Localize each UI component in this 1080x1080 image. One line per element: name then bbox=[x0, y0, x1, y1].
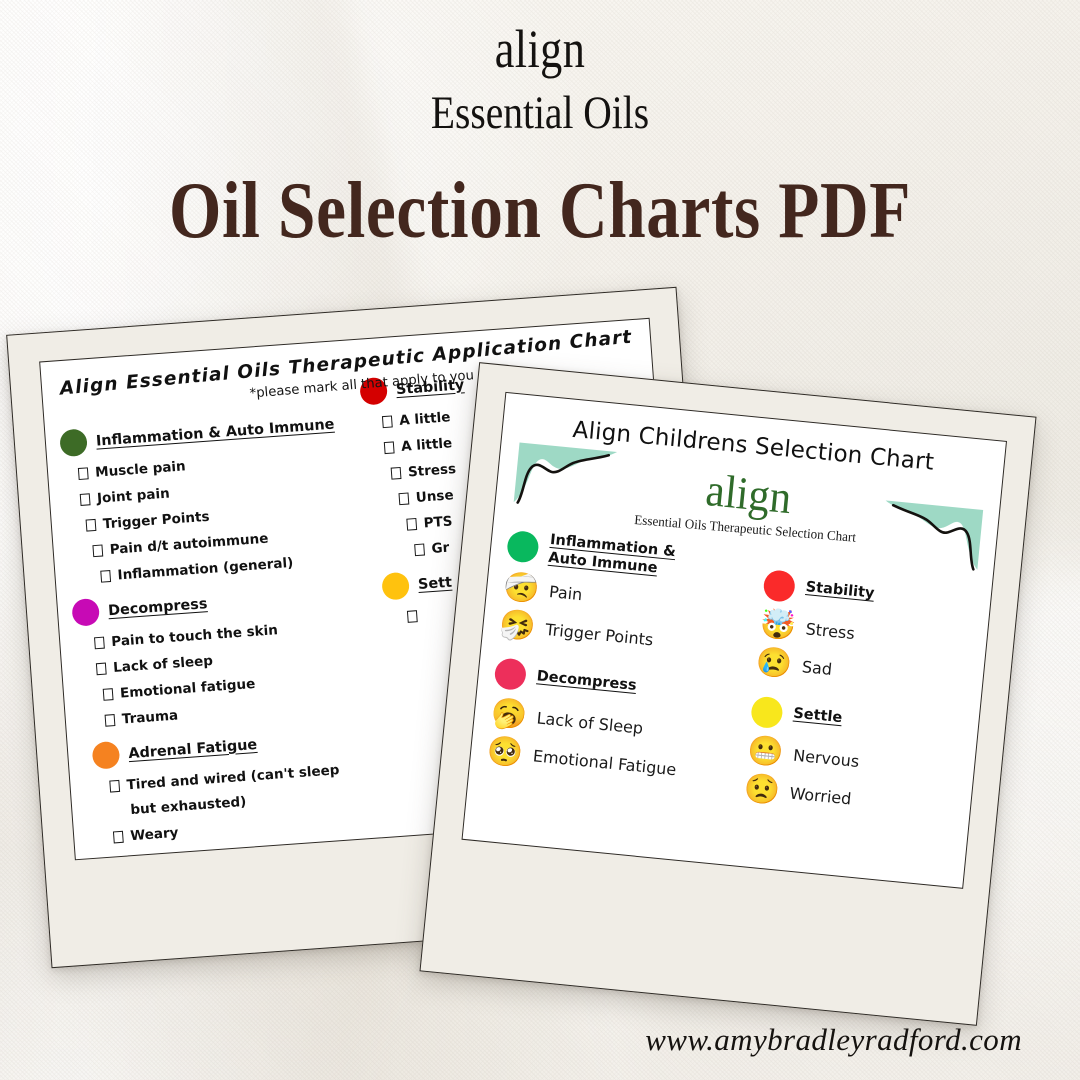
checklist-label: Trauma bbox=[121, 708, 178, 728]
checkbox-icon[interactable] bbox=[109, 780, 120, 793]
group-color-dot-green bbox=[59, 428, 88, 457]
checkbox-icon[interactable] bbox=[382, 415, 393, 428]
group-label: Inflammation & Auto Immune bbox=[95, 416, 334, 449]
brand-subtitle: Essential Oils bbox=[86, 86, 993, 141]
childrens-right-column: Stability 🤯 Stress 😢 Sad bbox=[719, 551, 977, 824]
group-color-dot-orange bbox=[92, 741, 121, 770]
group-label: Settle bbox=[792, 706, 842, 729]
worried-face-emoji: 😟 bbox=[742, 774, 778, 806]
group-label: Decompress bbox=[108, 596, 208, 619]
childrens-left-column: Inflammation &Auto Immune 🤕 Pain 🤧 Trigg… bbox=[485, 528, 743, 801]
symptom-label: Sad bbox=[801, 657, 833, 679]
checklist-label: Lack of sleep bbox=[113, 653, 214, 676]
checklist-label: A little bbox=[401, 435, 453, 455]
symptom-label: Lack of Sleep bbox=[536, 708, 644, 737]
checklist-label: Gr bbox=[431, 540, 450, 557]
group-color-dot-yellow bbox=[750, 695, 784, 729]
group-color-dot-pink bbox=[493, 658, 527, 692]
symptom-label: Nervous bbox=[792, 746, 860, 771]
checklist-label: Pain d/t autoimmune bbox=[109, 531, 269, 558]
yawning-face-emoji: 🥱 bbox=[490, 699, 526, 731]
group-color-dot-magenta bbox=[71, 598, 100, 627]
symptom-label: Pain bbox=[548, 582, 583, 604]
sneezing-face-emoji: 🤧 bbox=[498, 610, 534, 642]
childrens-chart-card[interactable]: Align Childrens Selection Chart align Es… bbox=[419, 362, 1036, 1026]
group-label: Decompress bbox=[536, 668, 637, 696]
checklist-label: Pain to touch the skin bbox=[111, 622, 279, 650]
checkbox-icon[interactable] bbox=[80, 493, 91, 506]
checklist-label: Muscle pain bbox=[95, 458, 186, 480]
checkbox-icon[interactable] bbox=[100, 570, 111, 583]
group-label: Inflammation &Auto Immune bbox=[547, 532, 676, 580]
childrens-chart-content: Align Childrens Selection Chart align Es… bbox=[463, 393, 1006, 888]
symptom-label: Worried bbox=[789, 784, 853, 809]
checkbox-icon[interactable] bbox=[96, 663, 107, 676]
checklist-label: Emotional fatigue bbox=[120, 676, 256, 702]
checklist-label: Inflammation (general) bbox=[117, 555, 294, 584]
website-url[interactable]: www.amybradleyradford.com bbox=[645, 1022, 1022, 1058]
checkbox-icon[interactable] bbox=[398, 492, 409, 505]
checkbox-icon[interactable] bbox=[103, 688, 114, 701]
symptom-label: Emotional Fatigue bbox=[532, 746, 677, 779]
grimacing-face-emoji: 😬 bbox=[746, 736, 782, 768]
poster-title: Oil Selection Charts PDF bbox=[0, 165, 1080, 258]
exploding-head-emoji: 🤯 bbox=[759, 610, 795, 642]
brand-name: align bbox=[97, 0, 983, 76]
group-color-dot-green bbox=[506, 530, 540, 564]
checkbox-icon[interactable] bbox=[406, 518, 417, 531]
therapeutic-left-column: Inflammation & Auto Immune Muscle pain J… bbox=[59, 409, 379, 847]
checkbox-icon[interactable] bbox=[105, 714, 116, 727]
checklist-label: Weary bbox=[130, 825, 179, 844]
checkbox-icon[interactable] bbox=[407, 610, 418, 623]
group-label: Sett bbox=[417, 574, 452, 592]
checkbox-icon[interactable] bbox=[92, 544, 103, 557]
checklist-label: Trigger Points bbox=[102, 509, 210, 533]
group-color-dot-yellow bbox=[381, 572, 410, 601]
checkbox-icon[interactable] bbox=[113, 831, 124, 844]
group-label: Adrenal Fatigue bbox=[128, 736, 258, 761]
poster-canvas: align Essential Oils Oil Selection Chart… bbox=[0, 0, 1080, 1080]
checklist-label-wrap: but exhausted) bbox=[130, 794, 247, 818]
childrens-chart-sheet: Align Childrens Selection Chart align Es… bbox=[462, 392, 1008, 889]
group-label: Stability bbox=[805, 579, 875, 604]
pleading-face-emoji: 🥺 bbox=[486, 737, 522, 769]
head-bandage-emoji: 🤕 bbox=[502, 573, 538, 605]
checkbox-icon[interactable] bbox=[391, 467, 402, 480]
symptom-label: Stress bbox=[805, 619, 856, 643]
checklist-label: Joint pain bbox=[97, 486, 171, 507]
poster-header: align Essential Oils Oil Selection Chart… bbox=[0, 0, 1080, 241]
checkbox-icon[interactable] bbox=[86, 519, 97, 532]
checkbox-icon[interactable] bbox=[78, 467, 89, 480]
checkbox-icon[interactable] bbox=[384, 441, 395, 454]
checkbox-icon[interactable] bbox=[414, 543, 425, 556]
checklist-label: Unse bbox=[415, 487, 454, 506]
crying-face-emoji: 😢 bbox=[755, 648, 791, 680]
checkbox-icon[interactable] bbox=[94, 637, 105, 650]
group-color-dot-red bbox=[762, 569, 796, 603]
checklist-label: Stress bbox=[407, 461, 456, 480]
checklist-label: PTS bbox=[423, 513, 453, 531]
checklist-label: A little bbox=[399, 409, 451, 429]
